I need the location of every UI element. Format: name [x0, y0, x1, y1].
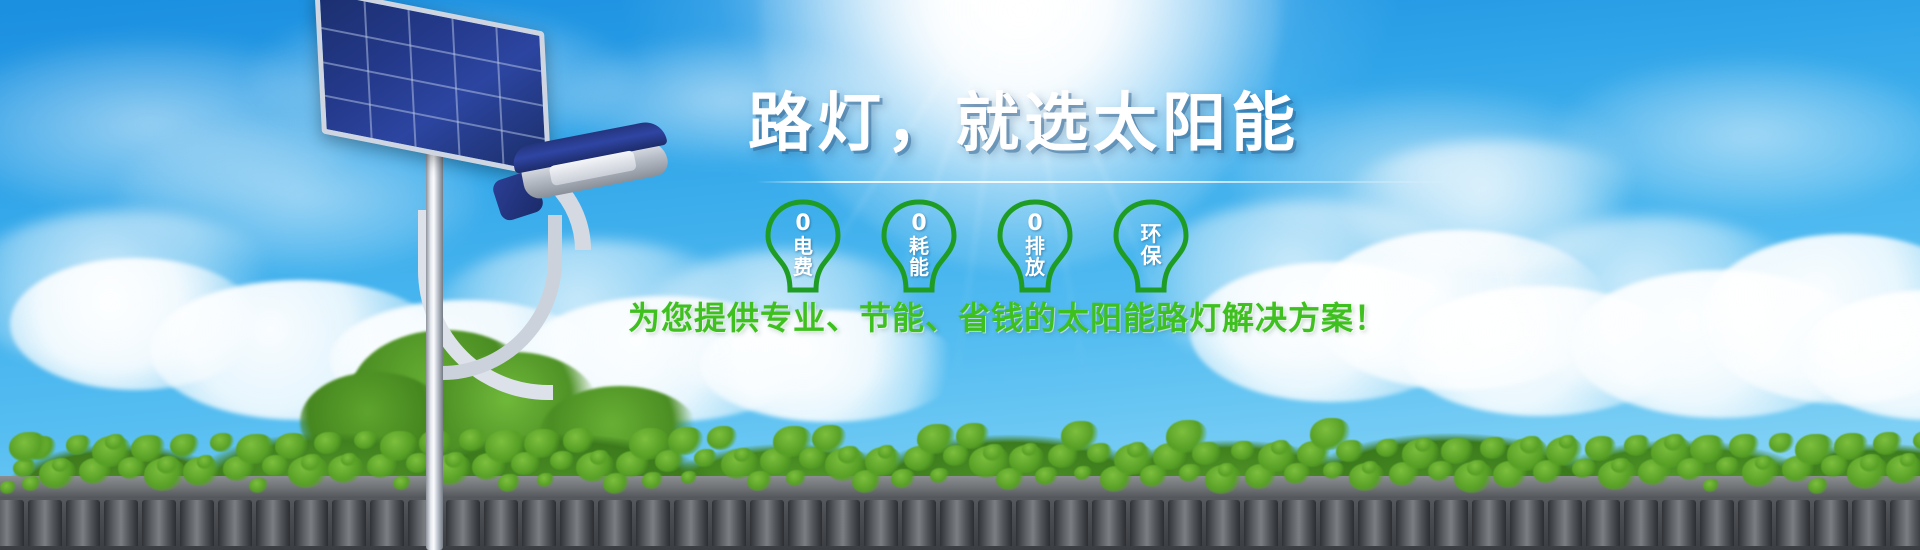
- feature-badge-dianfei: 0 电费: [760, 196, 846, 294]
- feature-badge-paifang: 0 排放: [992, 196, 1078, 294]
- solar-street-lamp-banner: 路灯，就选太阳能 0 电费 0 耗能: [0, 0, 1920, 550]
- divider: [756, 181, 1456, 183]
- feature-badge-haoneng: 0 耗能: [876, 196, 962, 294]
- badge-label: 排放: [1025, 236, 1045, 278]
- copy-block: 路灯，就选太阳能 0 电费 0 耗能: [0, 0, 1920, 550]
- badge-zero: 0: [911, 213, 926, 235]
- feature-badge-list: 0 电费 0 耗能 0 排放: [760, 196, 1460, 296]
- badge-zero: 0: [1027, 213, 1042, 235]
- badge-zero: 0: [795, 213, 810, 235]
- subtitle: 为您提供专业、节能、省钱的太阳能路灯解决方案！: [628, 293, 1387, 339]
- badge-label: 电费: [793, 236, 813, 278]
- page-title: 路灯，就选太阳能: [748, 92, 1300, 156]
- badge-label: 环保: [1141, 223, 1162, 267]
- feature-badge-huanbao: 环保: [1108, 196, 1194, 294]
- badge-label: 耗能: [909, 236, 929, 278]
